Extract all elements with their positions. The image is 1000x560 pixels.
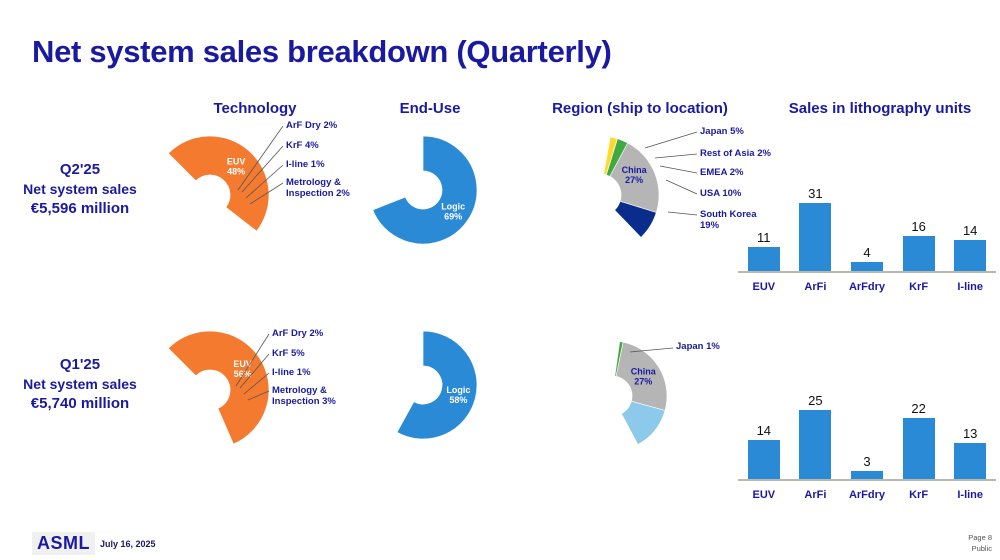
callout-region-q2-south-korea-leader xyxy=(666,210,699,217)
bar-value-arfdry: 3 xyxy=(841,454,893,469)
callout-tech-q2-metrology: Metrology & Inspection 2% xyxy=(286,177,364,199)
callout-tech-q1-krf: KrF 5% xyxy=(272,348,305,359)
callout-tech-q1-metrology: Metrology & Inspection 3% xyxy=(272,385,350,407)
bar-category-arfdry: ArFdry xyxy=(841,281,893,293)
bar-value-euv: 11 xyxy=(738,230,790,245)
row-caption-q1: Net system sales xyxy=(5,375,155,394)
footer-page-number: Page 8 xyxy=(968,532,992,543)
donut-chart-end-use-q1: Memory42%Logic58% xyxy=(368,330,478,440)
bar-category-i-line: I-line xyxy=(944,489,996,501)
footer-classification: Public xyxy=(968,543,992,554)
donut-svg: Memory42%Logic58% xyxy=(368,330,478,440)
bar-i-line xyxy=(954,443,986,479)
donut-slice-euv xyxy=(168,136,269,231)
bar-category-i-line: I-line xyxy=(944,281,996,293)
donut-slice-logic xyxy=(373,136,477,244)
bar-value-arfi: 25 xyxy=(790,393,842,408)
bar-i-line xyxy=(954,240,986,271)
slide-canvas: Net system sales breakdown (Quarterly) T… xyxy=(0,0,1000,560)
donut-svg: USA16%South Korea40%Taiwan16%China27% xyxy=(556,340,668,452)
bar-category-krf: KrF xyxy=(893,489,945,501)
slice-label-euv: EUV56% xyxy=(233,359,252,379)
bar-arfdry xyxy=(851,471,883,479)
bar-value-euv: 14 xyxy=(738,423,790,438)
column-header-units: Sales in lithography units xyxy=(770,100,990,117)
bar-arfi xyxy=(799,203,831,271)
callout-region-q2-rest-of-asia: Rest of Asia 2% xyxy=(700,148,771,159)
bar-euv xyxy=(748,440,780,479)
bar-chart-units-q1: 14EUV25ArFi3ArFdry22KrF13I-line xyxy=(738,385,996,503)
donut-chart-region-q2: Taiwan35%China27% xyxy=(540,135,660,255)
slice-label-euv: EUV48% xyxy=(227,156,246,176)
callout-region-q2-emea-leader xyxy=(658,164,699,175)
bar-value-i-line: 13 xyxy=(944,426,996,441)
donut-chart-technology-q2: ArFi43%EUV48% xyxy=(150,135,270,255)
row-amount-q2: €5,596 million xyxy=(5,199,155,219)
bar-category-arfdry: ArFdry xyxy=(841,489,893,501)
row-label-q1-25: Q1'25 Net system sales €5,740 million xyxy=(5,355,155,414)
bar-arfdry xyxy=(851,262,883,271)
callout-tech-q1-arf-dry: ArF Dry 2% xyxy=(272,328,323,339)
donut-svg: ArFi43%EUV48% xyxy=(150,135,270,255)
page-title: Net system sales breakdown (Quarterly) xyxy=(32,34,612,70)
row-amount-q1: €5,740 million xyxy=(5,394,155,414)
bar-axis-line-q2 xyxy=(738,271,996,273)
row-label-q2-25: Q2'25 Net system sales €5,596 million xyxy=(5,160,155,219)
bar-axis-line-q1 xyxy=(738,479,996,481)
callout-region-q2-usa-leader xyxy=(664,178,699,196)
callout-region-q2-usa: USA 10% xyxy=(700,188,741,199)
bar-value-krf: 22 xyxy=(893,401,945,416)
bar-arfi xyxy=(799,410,831,479)
column-header-end-use: End-Use xyxy=(355,100,505,117)
callout-region-q1-japan: Japan 1% xyxy=(676,341,720,352)
bar-category-arfi: ArFi xyxy=(790,281,842,293)
row-caption-q2: Net system sales xyxy=(5,180,155,199)
bar-category-euv: EUV xyxy=(738,281,790,293)
callout-region-q2-emea: EMEA 2% xyxy=(700,167,743,178)
donut-slice-euv xyxy=(168,331,269,444)
callout-region-q2-south-korea: South Korea 19% xyxy=(700,209,778,231)
bar-krf xyxy=(903,418,935,479)
donut-svg: Memory31%Logic69% xyxy=(368,135,478,245)
donut-chart-region-q1: USA16%South Korea40%Taiwan16%China27% xyxy=(556,340,668,452)
donut-svg: ArFi33%EUV56% xyxy=(150,330,270,450)
bar-value-i-line: 14 xyxy=(944,223,996,238)
slice-label-logic: Logic69% xyxy=(441,202,465,222)
column-header-region: Region (ship to location) xyxy=(515,100,765,117)
row-quarter-q2: Q2'25 xyxy=(5,160,155,180)
donut-chart-end-use-q2: Memory31%Logic69% xyxy=(368,135,478,245)
bar-chart-units-q2: 11EUV31ArFi4ArFdry16KrF14I-line xyxy=(738,175,996,295)
bar-category-krf: KrF xyxy=(893,281,945,293)
asml-logo: ASML xyxy=(32,532,95,555)
donut-svg: Taiwan35%China27% xyxy=(540,135,660,255)
bar-euv xyxy=(748,247,780,271)
callout-tech-q2-i-line: I-line 1% xyxy=(286,159,325,170)
bar-krf xyxy=(903,236,935,271)
footer-date: July 16, 2025 xyxy=(100,539,156,549)
bar-category-euv: EUV xyxy=(738,489,790,501)
callout-tech-q2-krf: KrF 4% xyxy=(286,140,319,151)
bar-value-arfi: 31 xyxy=(790,186,842,201)
bar-value-krf: 16 xyxy=(893,219,945,234)
bar-value-arfdry: 4 xyxy=(841,245,893,260)
bar-category-arfi: ArFi xyxy=(790,489,842,501)
footer-meta: Page 8 Public xyxy=(968,532,992,555)
callout-tech-q1-i-line: I-line 1% xyxy=(272,367,311,378)
column-header-technology: Technology xyxy=(150,100,360,117)
callout-tech-q2-arf-dry: ArF Dry 2% xyxy=(286,120,337,131)
slice-label-logic: Logic58% xyxy=(446,385,470,405)
donut-chart-technology-q1: ArFi33%EUV56% xyxy=(150,330,270,450)
callout-region-q2-japan: Japan 5% xyxy=(700,126,744,137)
row-quarter-q1: Q1'25 xyxy=(5,355,155,375)
